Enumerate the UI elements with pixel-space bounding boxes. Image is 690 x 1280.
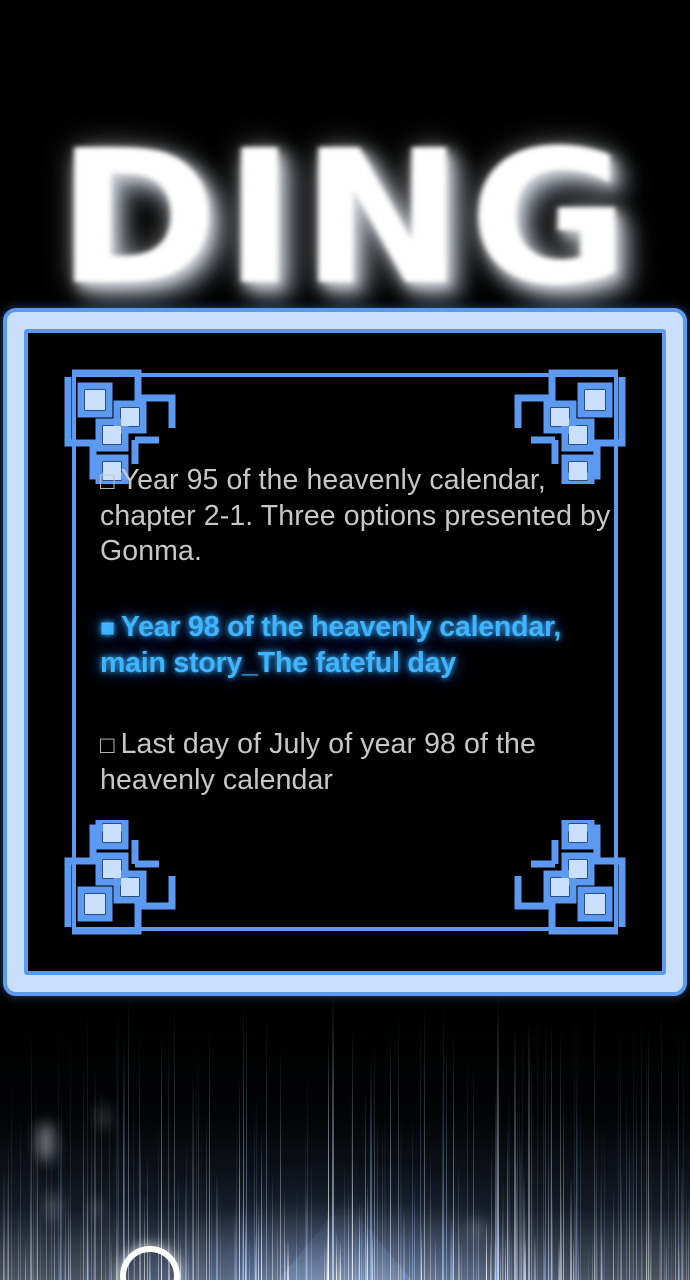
streak	[266, 1015, 267, 1280]
streak	[467, 1055, 468, 1280]
streak	[498, 1218, 499, 1280]
streak	[374, 1233, 375, 1280]
streak	[91, 1095, 92, 1280]
streak	[178, 1174, 179, 1280]
streak	[576, 1071, 577, 1280]
streak	[671, 1198, 672, 1280]
streak	[87, 1182, 88, 1280]
corner-ornament-bottom-right	[501, 820, 641, 950]
streak	[490, 1235, 491, 1280]
streak	[683, 1009, 684, 1280]
streak	[549, 1228, 550, 1280]
streak	[578, 1239, 579, 1280]
streak	[594, 1224, 595, 1280]
streak	[328, 1202, 329, 1280]
streak	[390, 1032, 391, 1280]
streak	[446, 1039, 447, 1280]
streak	[7, 1171, 8, 1280]
streak	[414, 1178, 415, 1280]
light-blob	[98, 1104, 109, 1130]
streak	[503, 1170, 504, 1280]
streak	[675, 1150, 676, 1280]
streak	[188, 1240, 189, 1280]
streak	[88, 1217, 89, 1280]
streak	[660, 1109, 661, 1280]
streak	[678, 1240, 679, 1280]
streak	[256, 1095, 257, 1280]
streak	[20, 1111, 21, 1280]
streak	[637, 1236, 639, 1280]
streak	[636, 1081, 637, 1280]
scene-title: DING	[56, 118, 634, 318]
checkbox-unchecked-icon[interactable]: □	[100, 468, 115, 495]
streak	[211, 1161, 212, 1280]
streak	[332, 993, 334, 1280]
streak	[287, 1239, 289, 1280]
streak	[400, 1109, 402, 1280]
streak	[30, 1143, 31, 1280]
streak	[216, 1171, 217, 1280]
scene-title-glow: DING	[62, 125, 640, 325]
streak	[478, 1198, 479, 1280]
option-label: Year 98 of the heavenly calendar, main s…	[100, 611, 561, 679]
streak	[558, 1237, 560, 1280]
streak	[601, 1226, 602, 1280]
streak	[686, 1179, 687, 1280]
streak	[12, 1239, 13, 1280]
streak	[94, 1069, 96, 1280]
streak	[421, 1224, 422, 1280]
option-item-2[interactable]: □Last day of July of year 98 of the heav…	[100, 727, 612, 798]
streak	[272, 1174, 273, 1280]
streak	[580, 1077, 581, 1280]
streak	[633, 1019, 634, 1280]
streak	[563, 1087, 564, 1280]
streak	[537, 1007, 538, 1280]
streak	[688, 1190, 689, 1280]
streak	[35, 1077, 37, 1280]
streak	[186, 1137, 187, 1280]
streak	[505, 1236, 506, 1280]
light-blob	[92, 1198, 102, 1220]
streak	[522, 1002, 523, 1280]
streak	[372, 1226, 373, 1280]
streak	[620, 1039, 621, 1280]
streak	[618, 1019, 619, 1280]
streak	[451, 1217, 453, 1280]
streak	[412, 1117, 413, 1280]
checkbox-checked-icon[interactable]: ■	[100, 614, 115, 642]
streak	[348, 1184, 349, 1280]
streak	[521, 1222, 522, 1280]
streak	[65, 1189, 66, 1280]
streak	[507, 1120, 508, 1280]
streak	[236, 1125, 237, 1280]
streak	[356, 1144, 357, 1280]
streak	[344, 1155, 345, 1280]
option-label: Year 95 of the heavenly calendar, chapte…	[100, 464, 610, 567]
streak	[443, 998, 444, 1280]
streak	[384, 1087, 386, 1280]
streak	[306, 1183, 307, 1280]
streak	[246, 1223, 247, 1280]
streak	[393, 1209, 394, 1280]
streak	[277, 1216, 278, 1280]
streak	[403, 1208, 405, 1280]
streak	[377, 1112, 378, 1280]
streak	[500, 1240, 501, 1280]
streak	[382, 1128, 383, 1280]
streak	[40, 1194, 41, 1280]
streak	[261, 1129, 262, 1280]
streak	[307, 1061, 308, 1280]
streak	[133, 1035, 134, 1280]
streak	[461, 1239, 462, 1280]
streak	[83, 1065, 84, 1280]
streak	[561, 1240, 562, 1280]
streak	[642, 1225, 643, 1280]
streak	[596, 1222, 598, 1280]
streak	[629, 1124, 630, 1280]
streak	[647, 1148, 648, 1280]
streak	[650, 1227, 651, 1280]
streak	[296, 1239, 297, 1280]
streak	[11, 1073, 12, 1280]
streak	[117, 1216, 118, 1280]
streak	[366, 1234, 368, 1280]
streak	[551, 1020, 552, 1280]
light-blob	[46, 1192, 59, 1222]
streak	[668, 1102, 669, 1280]
light-blob	[38, 1122, 54, 1162]
streak	[327, 1210, 328, 1280]
streak	[198, 1056, 199, 1280]
streak	[459, 1225, 460, 1280]
streak	[68, 1188, 69, 1280]
streak	[209, 1025, 210, 1280]
streak	[531, 1049, 532, 1280]
streak	[560, 1031, 561, 1280]
streak	[206, 1113, 207, 1280]
streak	[254, 1104, 255, 1280]
streak	[573, 1235, 574, 1280]
streak	[284, 1187, 285, 1280]
streak	[18, 1199, 19, 1280]
streak	[27, 1222, 28, 1280]
streak	[338, 1240, 340, 1280]
streak	[61, 1085, 62, 1280]
speed-lines-background	[0, 980, 690, 1280]
streak	[631, 1134, 633, 1280]
streak	[543, 1047, 544, 1280]
streak	[324, 1239, 325, 1280]
streak	[491, 1137, 492, 1280]
streak	[25, 1240, 26, 1280]
streak	[517, 1088, 518, 1280]
streak	[201, 1115, 202, 1280]
streak	[249, 1239, 250, 1280]
streak	[220, 1199, 221, 1280]
streak	[37, 1129, 38, 1280]
streak	[358, 1240, 360, 1280]
streak	[234, 1206, 235, 1280]
streak	[3, 1169, 5, 1280]
streak	[534, 1231, 536, 1280]
light-blob	[468, 1220, 484, 1238]
streak	[588, 1240, 589, 1280]
streak	[502, 1196, 503, 1280]
streak	[217, 1172, 218, 1280]
streak	[682, 1218, 683, 1280]
streak	[243, 1092, 244, 1280]
streak	[105, 1229, 106, 1280]
streak	[336, 1230, 337, 1280]
streak	[486, 1220, 487, 1280]
streak	[516, 1147, 517, 1280]
streak	[509, 1237, 510, 1280]
streak	[511, 1226, 512, 1280]
checkbox-unchecked-icon[interactable]: □	[100, 732, 115, 759]
streak	[552, 1185, 553, 1280]
streak	[363, 1228, 364, 1280]
option-label: Last day of July of year 98 of the heave…	[100, 728, 536, 796]
streak	[442, 1060, 443, 1280]
streak	[280, 1049, 281, 1280]
streak	[239, 1079, 240, 1280]
bottom-glow	[0, 1120, 690, 1280]
option-item-1[interactable]: ■Year 98 of the heavenly calendar, main …	[100, 610, 612, 681]
streak	[197, 1186, 198, 1280]
streak	[93, 1231, 94, 1280]
streak	[8, 1141, 9, 1280]
streak	[664, 1199, 665, 1280]
streak	[430, 1174, 431, 1280]
option-item-0[interactable]: □Year 95 of the heavenly calendar, chapt…	[100, 463, 612, 569]
streak	[180, 1236, 181, 1280]
streak	[111, 1240, 112, 1280]
streak	[123, 1071, 124, 1280]
streak	[398, 1007, 399, 1280]
streak	[85, 1198, 87, 1280]
streak	[424, 1006, 425, 1280]
streak	[626, 1090, 627, 1280]
streak	[409, 1224, 410, 1280]
scene-root: DING DING	[0, 0, 690, 1280]
streak	[361, 1199, 362, 1280]
streak	[519, 1072, 520, 1280]
streak	[435, 1236, 436, 1280]
streak	[128, 995, 129, 1280]
streak	[340, 1239, 341, 1280]
streak	[450, 1213, 451, 1280]
streak	[528, 1018, 530, 1280]
streak	[665, 1240, 667, 1280]
streak	[311, 1156, 312, 1280]
streak	[258, 1200, 259, 1280]
streak	[496, 1231, 497, 1280]
streak	[473, 1063, 474, 1280]
streak	[613, 1186, 614, 1280]
streak	[352, 1029, 353, 1280]
streak	[548, 1155, 549, 1280]
streak	[33, 1135, 34, 1280]
streak	[193, 1233, 194, 1280]
streak	[651, 1143, 652, 1280]
streak	[58, 1026, 59, 1280]
corner-ornament-bottom-left	[49, 820, 189, 950]
streak	[679, 1240, 680, 1280]
streak	[545, 1013, 546, 1280]
streak	[661, 1002, 662, 1280]
streak	[617, 1232, 618, 1280]
streak	[80, 1215, 81, 1280]
streak	[70, 1035, 71, 1280]
streak	[524, 1239, 526, 1280]
streak	[570, 1176, 572, 1280]
streak	[592, 1237, 593, 1280]
streak	[604, 1146, 605, 1280]
option-list: □Year 95 of the heavenly calendar, chapt…	[100, 463, 612, 798]
streak	[621, 1169, 622, 1280]
title-block: DING DING	[0, 118, 690, 338]
streak	[453, 1033, 454, 1280]
streak	[139, 1032, 140, 1280]
streak	[574, 996, 575, 1280]
